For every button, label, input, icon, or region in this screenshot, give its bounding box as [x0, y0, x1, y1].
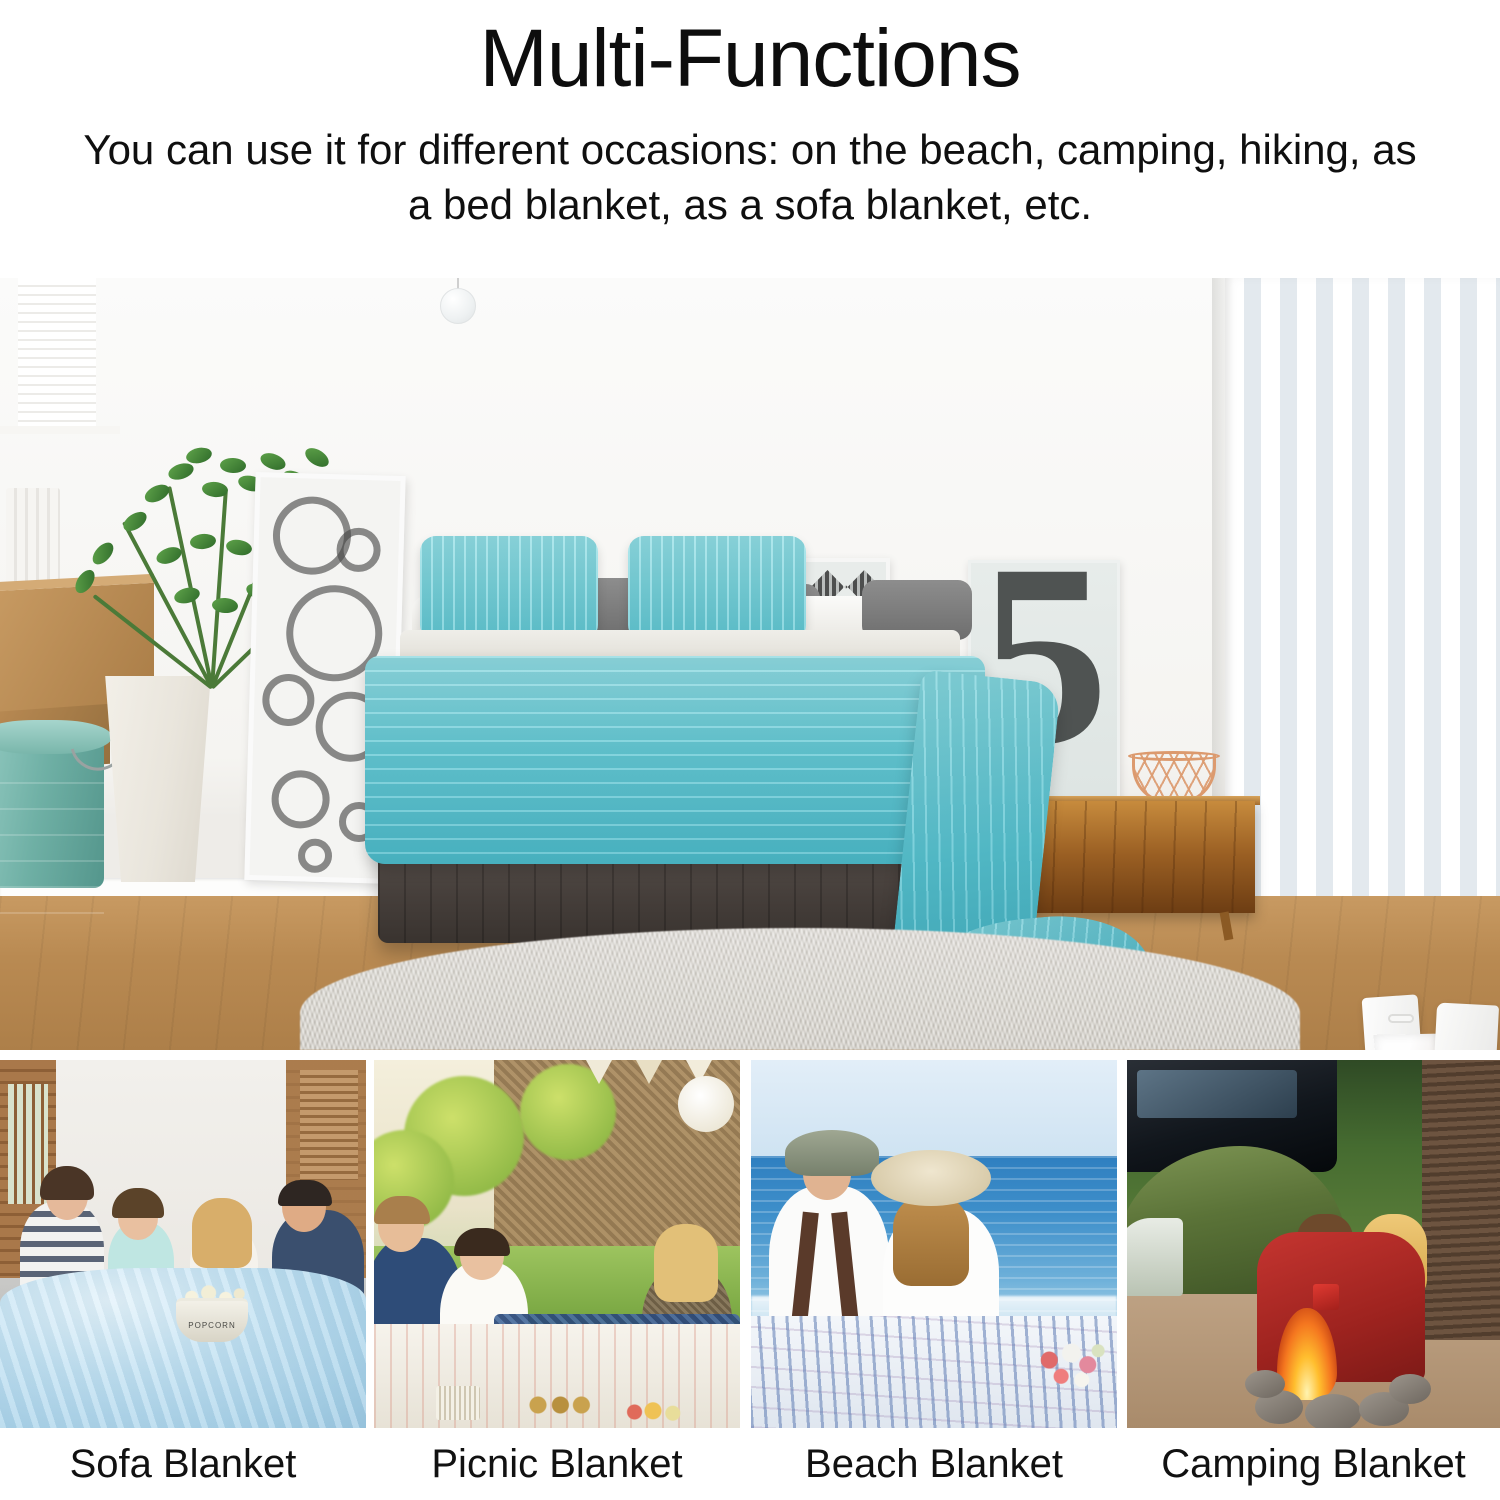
- woman-hair: [893, 1194, 969, 1286]
- fruit-plate: [620, 1400, 686, 1424]
- teal-pillow-right: [628, 536, 806, 641]
- tree-trunk: [1422, 1060, 1500, 1340]
- magazine-rack-handle: [1388, 1014, 1414, 1023]
- panel-camping-blanket: [1127, 1060, 1500, 1428]
- woman-sun-hat: [871, 1150, 991, 1206]
- product-feature-page: Multi-Functions You can use it for diffe…: [0, 0, 1500, 1500]
- popcorn-bowl: POPCORN: [176, 1298, 248, 1342]
- copper-basket-rim: [1128, 751, 1220, 761]
- man-fedora-hat: [785, 1130, 879, 1176]
- panel-picnic-blanket: [374, 1060, 740, 1428]
- magazine-rack-right-panel: [1427, 1003, 1499, 1050]
- girl-hair: [192, 1198, 252, 1268]
- snack-basket: [436, 1386, 480, 1420]
- use-case-gallery: POPCORN: [0, 1060, 1500, 1428]
- crackers-plate: [524, 1394, 594, 1416]
- panel-beach-blanket: [751, 1060, 1117, 1428]
- pendant-bulb: [440, 288, 476, 324]
- girl-hair: [654, 1224, 718, 1302]
- tent-door: [1127, 1218, 1183, 1296]
- caption-row: Sofa Blanket Picnic Blanket Beach Blanke…: [0, 1428, 1500, 1500]
- striped-wallpaper: [1225, 278, 1500, 938]
- teal-quilt-blanket: [365, 656, 985, 864]
- window-blind: [18, 278, 96, 428]
- panel-sofa-blanket: POPCORN: [0, 1060, 366, 1428]
- flower-bouquet: [1033, 1338, 1107, 1396]
- page-subtitle: You can use it for different occasions: …: [80, 100, 1420, 233]
- caption-camping-blanket: Camping Blanket: [1127, 1428, 1500, 1500]
- shutter-slats: [300, 1070, 358, 1180]
- hero-bedroom-image: 5: [0, 278, 1500, 1050]
- caption-beach-blanket: Beach Blanket: [751, 1428, 1117, 1500]
- header-block: Multi-Functions You can use it for diffe…: [0, 0, 1500, 278]
- fire-ring-rock: [1389, 1374, 1431, 1404]
- fire-ring-rock: [1305, 1394, 1361, 1428]
- bunting-flag: [586, 1060, 612, 1084]
- suv-window: [1137, 1070, 1297, 1118]
- caption-sofa-blanket: Sofa Blanket: [0, 1428, 366, 1500]
- page-title: Multi-Functions: [0, 0, 1500, 100]
- caption-picnic-blanket: Picnic Blanket: [374, 1428, 740, 1500]
- popcorn-bowl-label: POPCORN: [176, 1321, 248, 1330]
- red-mug: [1313, 1284, 1339, 1310]
- fire-ring-rock: [1245, 1370, 1285, 1398]
- paper-lantern: [678, 1076, 734, 1132]
- teal-pillow-left: [420, 536, 598, 641]
- bunting-flag: [636, 1060, 662, 1084]
